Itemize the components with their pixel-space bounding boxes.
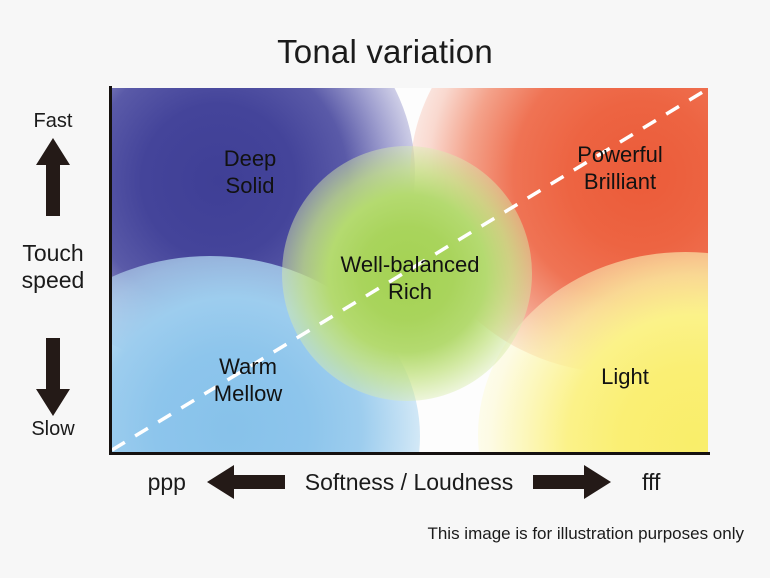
- y-axis-bottom-label: Slow: [0, 418, 106, 441]
- arrow-up-icon: [36, 138, 70, 216]
- page-title: Tonal variation: [0, 33, 770, 71]
- y-axis-group: Fast Touch speed Slow: [0, 88, 106, 452]
- illustration-disclaimer: This image is for illustration purposes …: [427, 524, 744, 544]
- region-label-warm-mellow: Warm Mellow: [148, 353, 348, 407]
- x-axis-line: [109, 452, 710, 455]
- x-axis-left-label: ppp: [131, 469, 203, 496]
- y-axis-title: Touch speed: [0, 240, 106, 294]
- y-axis-line: [109, 86, 112, 455]
- x-axis-right-label: fff: [615, 469, 687, 496]
- x-axis-title: Softness / Loudness: [289, 469, 529, 496]
- x-axis-group: ppp Softness / Loudness fff: [110, 460, 708, 504]
- arrow-down-icon: [36, 338, 70, 416]
- region-label-light: Light: [525, 363, 708, 390]
- arrow-right-icon: [529, 465, 615, 499]
- region-label-deep-solid: Deep Solid: [150, 145, 350, 199]
- arrow-left-icon: [203, 465, 289, 499]
- region-label-well-balanced-rich: Well-balanced Rich: [290, 251, 530, 305]
- region-label-powerful-brilliant: Powerful Brilliant: [510, 141, 708, 195]
- chart-plot-area: Deep Solid Powerful Brilliant Well-balan…: [110, 88, 708, 452]
- y-axis-top-label: Fast: [0, 110, 106, 133]
